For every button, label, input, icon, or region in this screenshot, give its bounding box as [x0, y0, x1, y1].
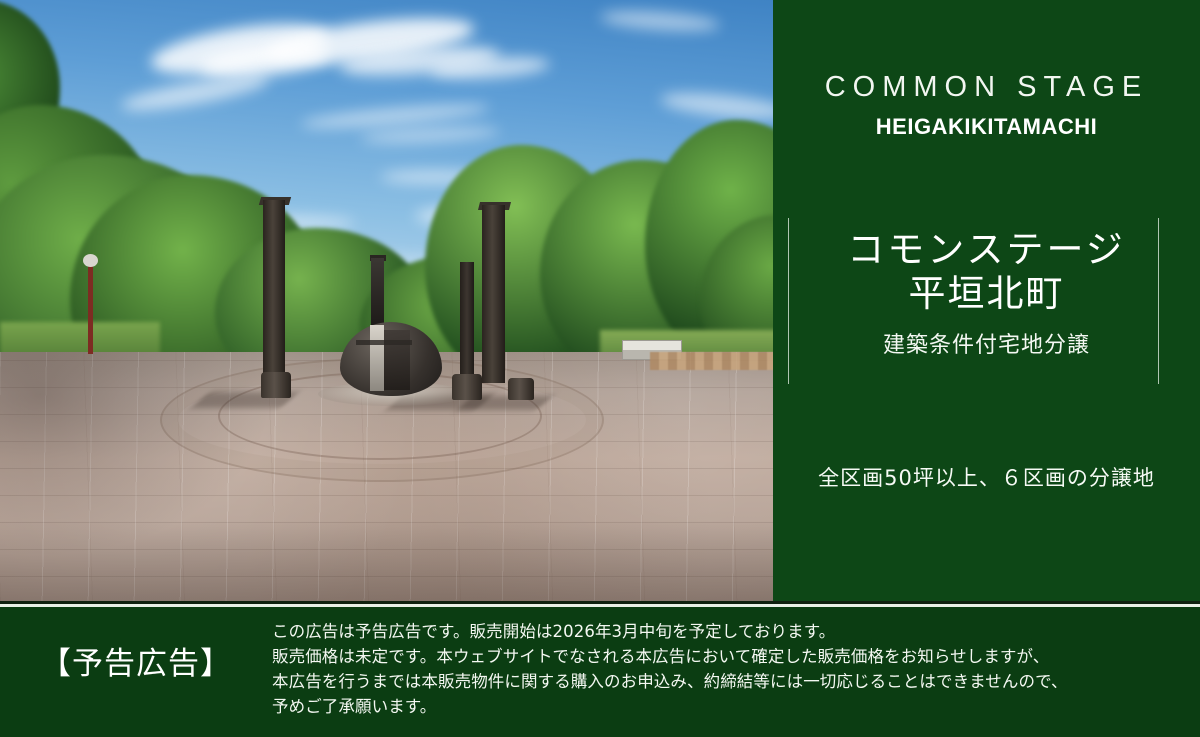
disclaimer-band: 【予告広告】 この広告は予告広告です。販売開始は2026年3月中旬を予定しており… — [0, 607, 1200, 737]
disclaimer-label: 【予告広告】 — [0, 607, 272, 683]
poster-top-area: COMMON STAGE HEIGAKIKITAMACHI コモンステージ 平垣… — [0, 0, 1200, 604]
foreground-shadow — [0, 520, 773, 604]
park-photo — [0, 0, 773, 604]
property-advertisement-poster: COMMON STAGE HEIGAKIKITAMACHI コモンステージ 平垣… — [0, 0, 1200, 737]
project-subtitle: 建築条件付宅地分譲 — [773, 327, 1200, 359]
monument-metal-plate — [370, 325, 384, 391]
pillar-base-stump — [452, 374, 482, 400]
brand-block: COMMON STAGE HEIGAKIKITAMACHI — [773, 72, 1200, 140]
disclaimer-line: この広告は予告広告です。販売開始は2026年3月中旬を予定しております。 — [272, 619, 1200, 644]
lamp-post — [88, 262, 93, 354]
pillar-base-stump — [508, 378, 534, 400]
monument-spire — [371, 258, 384, 330]
brand-name-english: COMMON STAGE — [773, 72, 1200, 104]
monument-cross-bar — [356, 340, 412, 345]
disclaimer-text: この広告は予告広告です。販売開始は2026年3月中旬を予定しております。 販売価… — [272, 607, 1200, 719]
brand-location-english: HEIGAKIKITAMACHI — [773, 114, 1200, 140]
lots-note: 全区画50坪以上、６区画の分譲地 — [773, 462, 1200, 492]
monument-dark-face — [384, 330, 410, 390]
green-info-panel: COMMON STAGE HEIGAKIKITAMACHI コモンステージ 平垣… — [773, 0, 1200, 604]
pillar-base-stump — [261, 372, 291, 398]
disclaimer-line: 予めご了承願います。 — [272, 694, 1200, 719]
brick-pathway — [650, 352, 773, 370]
title-block: コモンステージ 平垣北町 建築条件付宅地分譲 — [773, 228, 1200, 359]
disclaimer-line: 販売価格は未定です。本ウェブサイトでなされる本広告において確定した販売価格をお知… — [272, 644, 1200, 669]
wooden-pillar — [482, 205, 505, 383]
wooden-pillar — [263, 200, 285, 382]
lamp-head — [83, 254, 98, 267]
wooden-pillar — [460, 262, 474, 380]
project-name-line1: コモンステージ — [773, 228, 1200, 272]
project-name-line2: 平垣北町 — [773, 272, 1200, 316]
disclaimer-line: 本広告を行うまでは本販売物件に関する購入のお申込み、約締結等には一切応じることは… — [272, 669, 1200, 694]
